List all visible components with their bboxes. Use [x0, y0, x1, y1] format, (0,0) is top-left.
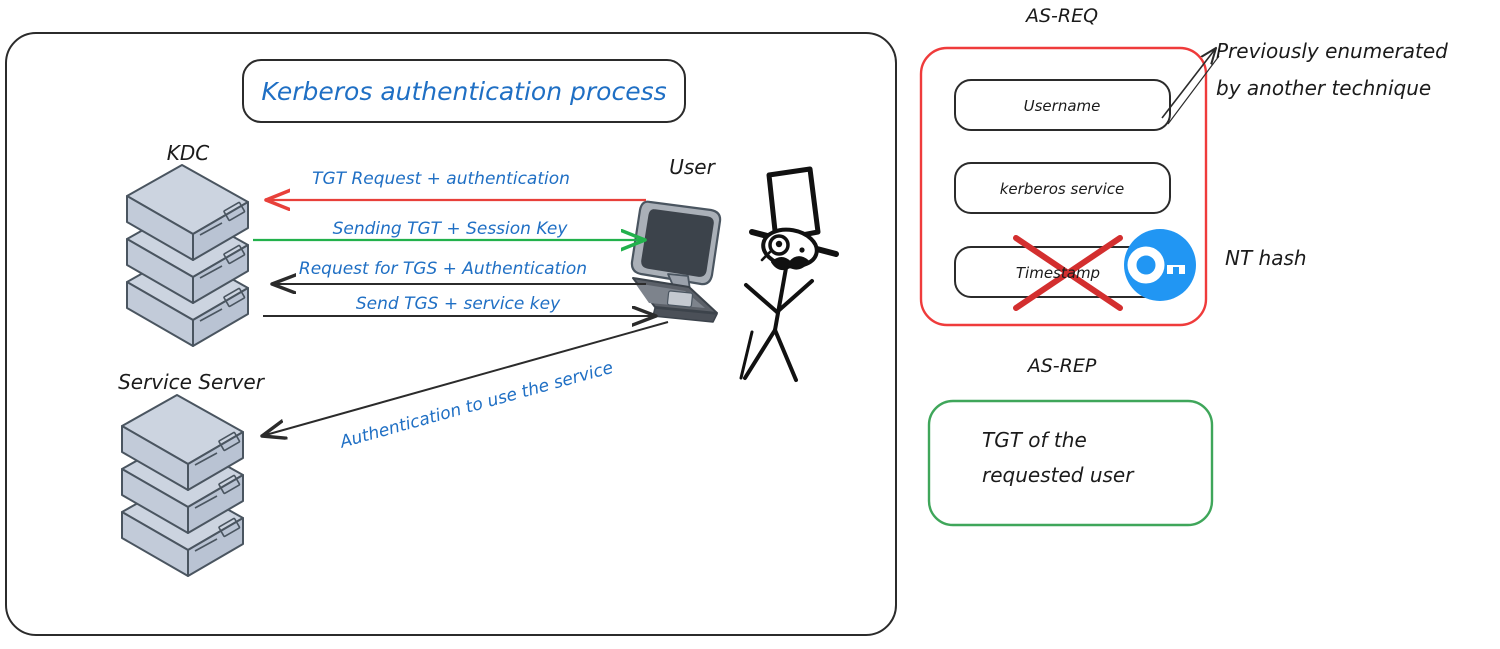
- as-req-item-label-0: Username: [1024, 97, 1101, 115]
- flow-label-3: Request for TGS + Authentication: [299, 259, 587, 279]
- service-server-icon: [122, 395, 243, 576]
- kdc-label: KDC: [167, 141, 210, 165]
- as-rep-line-2: requested user: [982, 463, 1135, 487]
- user-label: User: [669, 155, 716, 179]
- as-rep-line-1: TGT of the: [982, 428, 1087, 452]
- service-server-label: Service Server: [118, 370, 266, 394]
- annotation-line-1: Previously enumerated: [1216, 39, 1448, 63]
- as-req-heading: AS-REQ: [1024, 5, 1098, 27]
- annotation-line-2: by another technique: [1216, 76, 1431, 100]
- as-req-item-label-2: Timestamp: [1016, 264, 1100, 282]
- as-rep-heading: AS-REP: [1026, 355, 1097, 377]
- key-icon: [1124, 229, 1196, 301]
- flow-label-5: Authentication to use the service: [337, 358, 615, 453]
- flow-label-2: Sending TGT + Session Key: [333, 219, 569, 239]
- user-avatar-icon: [741, 169, 836, 380]
- user-computer-icon: [632, 202, 720, 322]
- flow-label-4: Send TGS + service key: [356, 294, 561, 314]
- as-req-item-label-1: kerberos service: [1000, 180, 1125, 198]
- diagram-canvas: Kerberos authentication process KDC User…: [0, 0, 1500, 649]
- flow-label-1: TGT Request + authentication: [312, 169, 570, 189]
- kdc-server-icon: [127, 165, 248, 346]
- page-title: Kerberos authentication process: [261, 77, 666, 106]
- nt-hash-label: NT hash: [1225, 246, 1307, 270]
